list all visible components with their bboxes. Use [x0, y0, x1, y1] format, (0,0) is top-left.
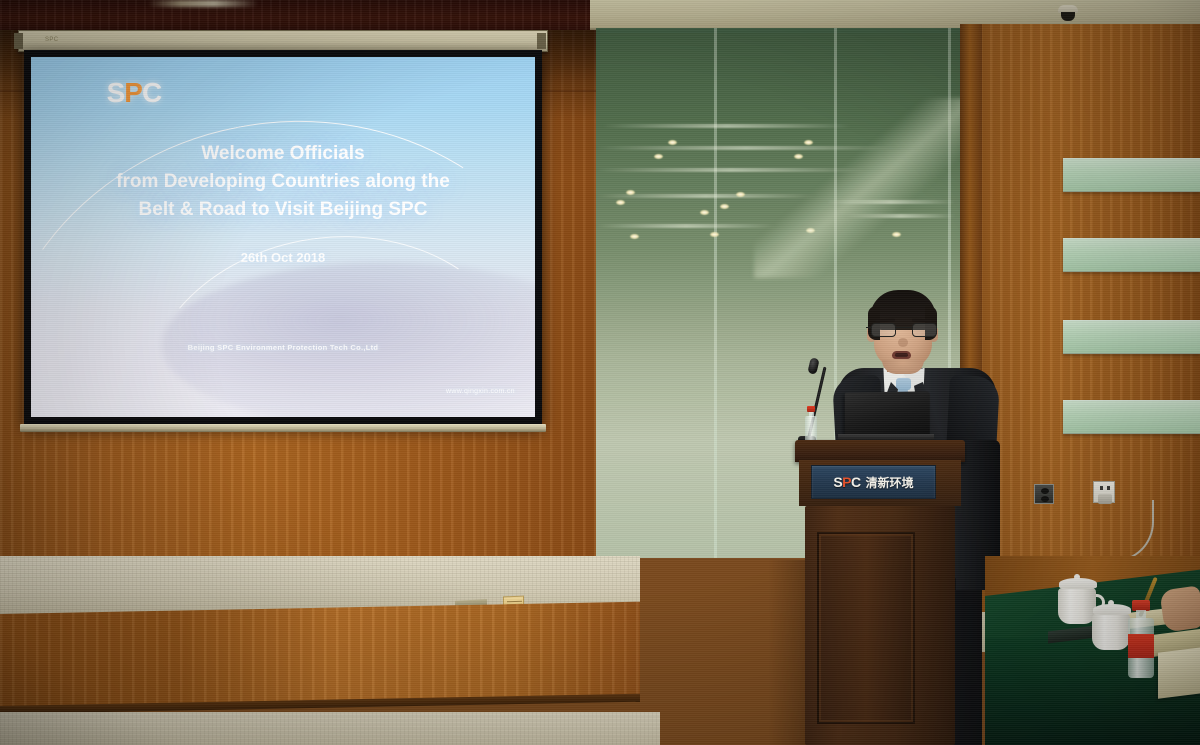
laptop-screen: [845, 391, 930, 436]
recessed-light-reflection: [700, 210, 709, 215]
ceiling-reflection-band: [596, 224, 776, 228]
water-bottle-table: [1128, 600, 1154, 678]
glass-highlight: [754, 98, 964, 278]
outlet-pin-right: [1107, 486, 1110, 490]
recessed-light-reflection: [720, 204, 729, 209]
presenter-mouth-inner: [895, 353, 908, 357]
power-outlet-dark-icon[interactable]: [1034, 484, 1054, 504]
teacup-body: [1092, 614, 1130, 650]
presenter-nose: [898, 338, 908, 347]
screen-bracket-right: [537, 33, 546, 49]
outlet-hole-bottom: [1041, 496, 1049, 502]
slide-company-name: Beijing SPC Environment Protection Tech …: [31, 343, 535, 352]
carpet-texture: [0, 712, 660, 745]
outlet-hole-top: [1041, 488, 1049, 494]
table-name-card-holder: [1158, 647, 1200, 698]
slide-title-line-3: Belt & Road to Visit Beijing SPC: [41, 196, 525, 224]
lectern-brand-sign: SPC 清新环境: [811, 465, 936, 499]
screen-brand-label: SPC: [45, 37, 59, 43]
name-card-text-lines: [507, 601, 522, 603]
spc-logo: SPC: [107, 77, 162, 109]
recessed-light-reflection: [710, 232, 719, 237]
recessed-light-reflection: [736, 192, 745, 197]
screen-bracket-left: [14, 33, 23, 49]
logo-letter-c: C: [142, 77, 161, 108]
logo-letter-s: S: [107, 77, 125, 108]
frosted-glass-strip: [1063, 238, 1200, 272]
slide-website-url: www.qingxin.com.cn: [446, 388, 515, 395]
lectern-logo-latin: SPC: [833, 474, 860, 490]
recessed-light-reflection: [630, 234, 639, 239]
frosted-glass-strip: [1063, 158, 1200, 192]
water-bottle-podium: [805, 406, 817, 442]
glasses-temple: [866, 327, 872, 328]
teacup-body: [1058, 588, 1096, 624]
teacup-lid-knob: [1074, 574, 1080, 580]
lens-right: [912, 323, 937, 337]
projector-screen-housing: SPC: [18, 30, 548, 52]
outlet-pin-left: [1100, 486, 1103, 490]
frosted-glass-strip: [1063, 400, 1200, 434]
presentation-slide: SPC Welcome Officials from Developing Co…: [31, 57, 535, 417]
teacup-back: [1058, 578, 1096, 626]
bottle-body: [805, 416, 817, 442]
teacup-lid-knob: [1108, 600, 1114, 606]
lectern-logo-chinese: 清新环境: [866, 474, 914, 491]
recessed-light-reflection: [668, 140, 677, 145]
floor-carpet: [0, 712, 660, 745]
lectern-inset-panel: [817, 532, 915, 724]
recessed-light-reflection: [616, 200, 625, 205]
logo-letter-p: P: [124, 77, 142, 108]
recessed-light-reflection: [626, 190, 635, 195]
slide-title-line-1: Welcome Officials: [41, 140, 525, 168]
detector-base: [1061, 12, 1075, 21]
conference-room-photo: SPC SPC Welcome Officials from Developin…: [0, 0, 1200, 745]
lectern-logo-c: C: [851, 474, 861, 490]
frosted-glass-strip: [1063, 320, 1200, 354]
glass-mullion: [714, 28, 717, 558]
projection-screen: SPC Welcome Officials from Developing Co…: [24, 50, 542, 424]
recessed-light-reflection: [654, 154, 663, 159]
lens-left: [871, 323, 896, 337]
bottle-label: [1128, 634, 1154, 658]
eyeglasses-icon: [870, 323, 938, 338]
smoke-detector-icon: [1056, 5, 1080, 21]
teacup-front: [1092, 604, 1130, 652]
projector-screen-weight-bar: [20, 424, 546, 432]
slide-title: Welcome Officials from Developing Countr…: [31, 140, 535, 224]
ceiling-light-flare: [148, 0, 258, 7]
attendee-hand: [1159, 585, 1200, 632]
lectern-top: [795, 440, 965, 462]
presenter-tie-knot: [896, 378, 911, 390]
slide-title-line-2: from Developing Countries along the: [41, 168, 525, 196]
glasses-bridge: [896, 327, 912, 328]
lectern-logo-s: S: [833, 474, 842, 490]
lectern: SPC 清新环境: [795, 440, 965, 745]
lectern-logo-p: P: [842, 474, 851, 490]
slide-date: 26th Oct 2018: [31, 250, 535, 265]
